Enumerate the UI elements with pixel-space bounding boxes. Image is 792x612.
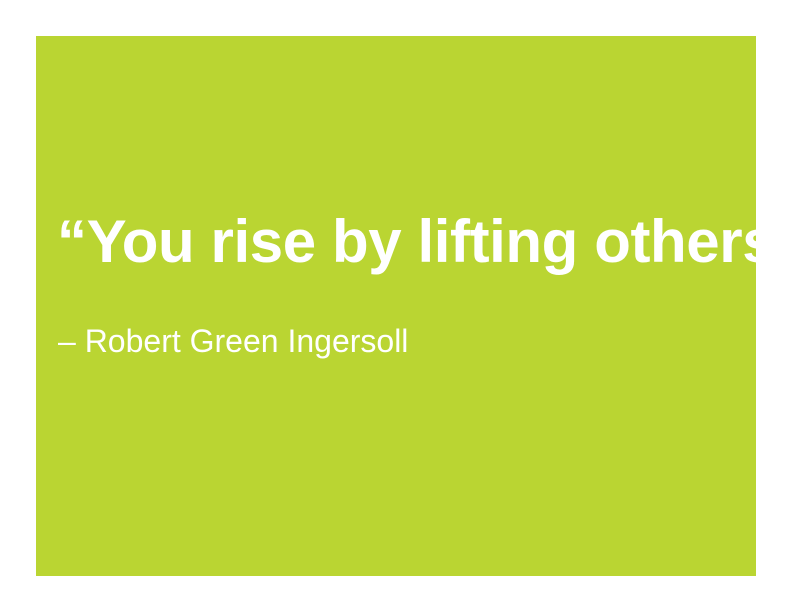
quote-attribution: – Robert Green Ingersoll	[58, 322, 408, 360]
quote-slide: “You rise by lifting others.” – Robert G…	[0, 0, 792, 612]
quote-panel: “You rise by lifting others.” – Robert G…	[36, 36, 756, 576]
quote-text: “You rise by lifting others.”	[57, 206, 756, 278]
